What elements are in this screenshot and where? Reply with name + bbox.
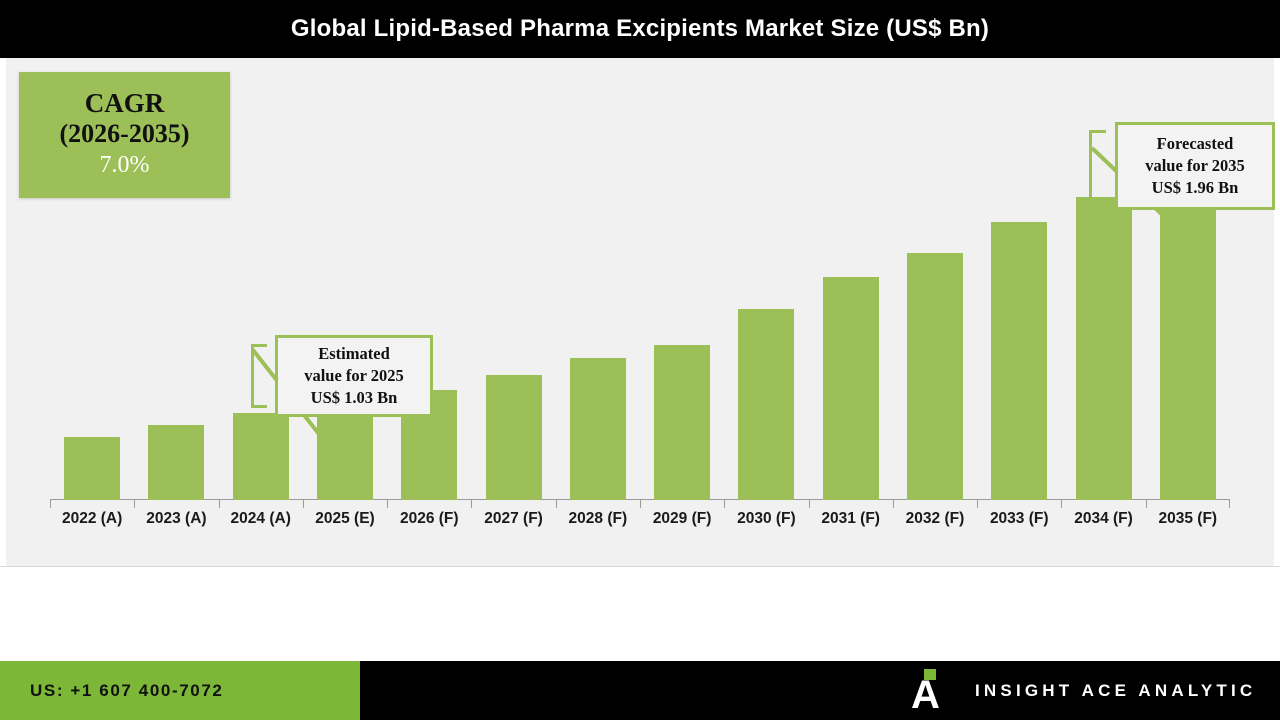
bar-slot — [387, 58, 471, 500]
x-axis-labels: 2022 (A)2023 (A)2024 (A)2025 (E)2026 (F)… — [50, 510, 1230, 528]
bar-slot — [219, 58, 303, 500]
x-label-2023: 2023 (A) — [134, 510, 218, 528]
bar-slot — [471, 58, 555, 500]
x-label-2028: 2028 (F) — [556, 510, 640, 528]
x-label-2033: 2033 (F) — [977, 510, 1061, 528]
bar-2024[interactable] — [233, 413, 289, 500]
bar-2025[interactable] — [317, 404, 373, 500]
x-axis-tick — [724, 500, 725, 508]
bar-2022[interactable] — [64, 437, 120, 500]
x-axis-tick — [1061, 500, 1062, 508]
bar-2033[interactable] — [991, 222, 1047, 500]
x-axis-tick — [471, 500, 472, 508]
x-label-2029: 2029 (F) — [640, 510, 724, 528]
x-axis-tick — [556, 500, 557, 508]
chart-page: Global Lipid-Based Pharma Excipients Mar… — [0, 0, 1280, 720]
bar-slot — [977, 58, 1061, 500]
bar-2028[interactable] — [570, 358, 626, 500]
bar-slot — [640, 58, 724, 500]
page-title: Global Lipid-Based Pharma Excipients Mar… — [291, 15, 989, 43]
contributors-strip: Market Contributors: AAK Alsiano Biophar… — [0, 566, 1280, 661]
bar-2030[interactable] — [738, 309, 794, 500]
x-label-2024: 2024 (A) — [219, 510, 303, 528]
insight-ace-logo-mark: A — [905, 669, 945, 713]
footer-brand: A INSIGHT ACE ANALYTIC — [360, 661, 1280, 720]
x-axis-tick — [387, 500, 388, 508]
callout-2025-line2: value for 2025 — [304, 365, 404, 387]
cagr-period: (2026-2035) — [60, 119, 190, 149]
x-axis-tick — [640, 500, 641, 508]
bar-2031[interactable] — [823, 277, 879, 500]
callout-2025-bracket — [251, 344, 267, 408]
bar-2023[interactable] — [148, 425, 204, 500]
x-axis-tick — [50, 500, 51, 508]
x-axis-tick — [1229, 500, 1230, 508]
footer-contact: US: +1 607 400-7072 — [0, 661, 360, 720]
bar-2034[interactable] — [1076, 197, 1132, 500]
x-label-2032: 2032 (F) — [893, 510, 977, 528]
bar-slot — [893, 58, 977, 500]
footer-bar: US: +1 607 400-7072 A INSIGHT ACE ANALYT… — [0, 661, 1280, 720]
bar-2027[interactable] — [486, 375, 542, 500]
callout-2035-bracket — [1089, 130, 1106, 214]
footer-phone[interactable]: US: +1 607 400-7072 — [30, 681, 223, 701]
x-label-2027: 2027 (F) — [471, 510, 555, 528]
chart-area: 2022 (A)2023 (A)2024 (A)2025 (E)2026 (F)… — [0, 58, 1280, 566]
cagr-badge: CAGR (2026-2035) 7.0% — [19, 72, 230, 198]
callout-2025-line1: Estimated — [318, 343, 390, 365]
bar-slot — [556, 58, 640, 500]
x-axis-tick — [809, 500, 810, 508]
callout-forecasted-2035: Forecasted value for 2035 US$ 1.96 Bn — [1115, 122, 1275, 210]
callout-2035-line1: Forecasted — [1157, 133, 1234, 155]
x-axis-tick — [977, 500, 978, 508]
x-label-2035: 2035 (F) — [1146, 510, 1230, 528]
bar-slot — [809, 58, 893, 500]
bar-2029[interactable] — [654, 345, 710, 500]
cagr-value: 7.0% — [100, 150, 150, 181]
bar-slot — [303, 58, 387, 500]
x-label-2025: 2025 (E) — [303, 510, 387, 528]
x-axis-tick — [893, 500, 894, 508]
x-label-2034: 2034 (F) — [1061, 510, 1145, 528]
title-bar: Global Lipid-Based Pharma Excipients Mar… — [0, 0, 1280, 58]
bar-2032[interactable] — [907, 253, 963, 500]
bar-slot — [724, 58, 808, 500]
cagr-title: CAGR — [85, 88, 165, 118]
x-label-2022: 2022 (A) — [50, 510, 134, 528]
callout-2025-line3: US$ 1.03 Bn — [311, 387, 398, 409]
callout-estimated-2025: Estimated value for 2025 US$ 1.03 Bn — [275, 335, 433, 417]
x-axis-tick — [1146, 500, 1147, 508]
brand-name: INSIGHT ACE ANALYTIC — [975, 681, 1256, 701]
x-axis-tick — [303, 500, 304, 508]
x-label-2030: 2030 (F) — [724, 510, 808, 528]
logo-a-glyph: A — [911, 677, 939, 713]
x-label-2026: 2026 (F) — [387, 510, 471, 528]
x-label-2031: 2031 (F) — [809, 510, 893, 528]
callout-2035-line3: US$ 1.96 Bn — [1152, 177, 1239, 199]
callout-2035-line2: value for 2035 — [1145, 155, 1245, 177]
x-axis-tick — [134, 500, 135, 508]
x-axis-tick — [219, 500, 220, 508]
